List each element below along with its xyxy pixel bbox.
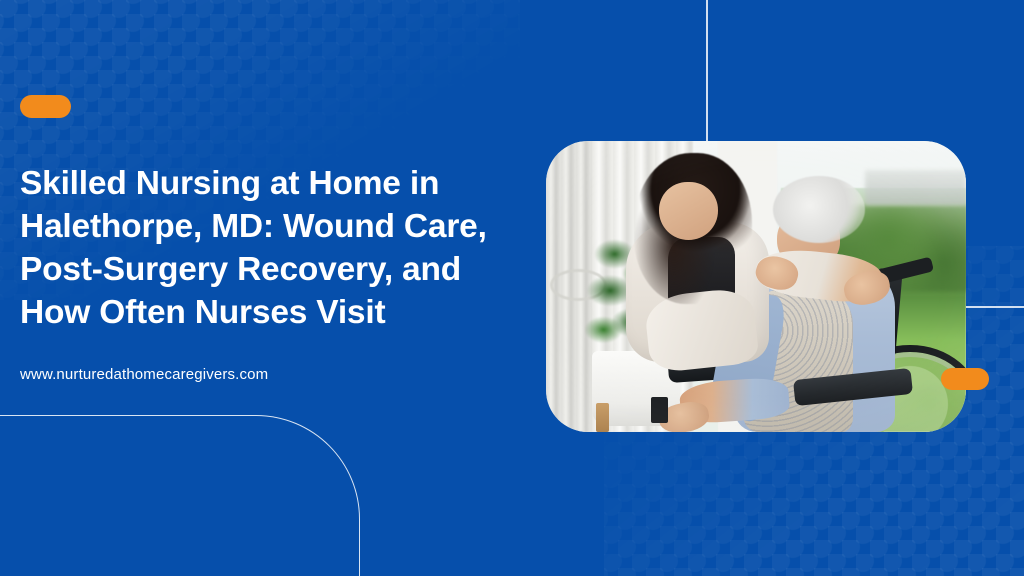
hero-photo-card xyxy=(546,141,966,432)
orange-pill-accent-right xyxy=(941,368,989,390)
vertical-accent-line xyxy=(706,0,708,141)
page-title: Skilled Nursing at Home in Halethorpe, M… xyxy=(20,162,520,334)
website-url: www.nurturedathomecaregivers.com xyxy=(20,366,268,383)
hero-photo xyxy=(546,141,966,432)
horizontal-accent-line xyxy=(966,306,1024,308)
orange-pill-accent-top xyxy=(20,95,71,118)
photo-soft-light-overlay xyxy=(546,141,966,432)
promo-slide: Skilled Nursing at Home in Halethorpe, M… xyxy=(0,0,1024,576)
corner-accent-line xyxy=(0,415,360,576)
